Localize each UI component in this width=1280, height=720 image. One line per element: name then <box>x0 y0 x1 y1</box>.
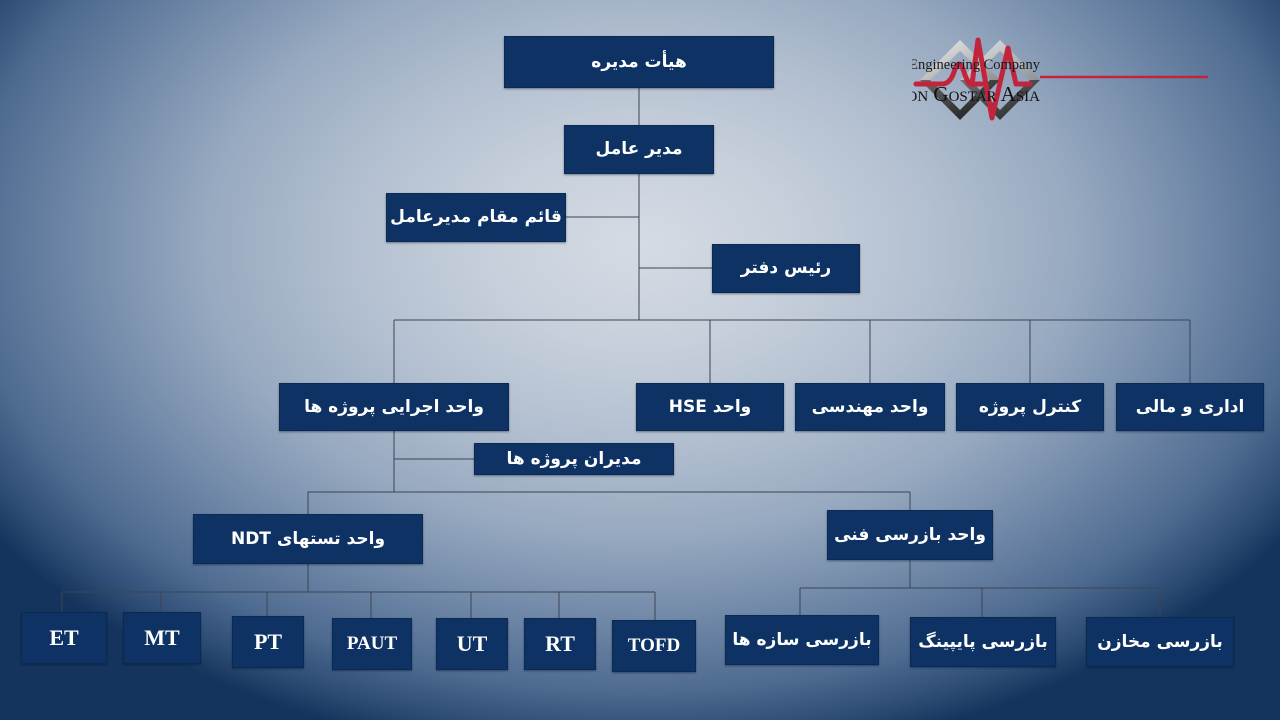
org-node-label: MT <box>136 626 187 650</box>
org-node-insp-structures[interactable]: بازرسی سازه ها <box>725 615 879 665</box>
org-node-label: PAUT <box>339 634 405 655</box>
org-node-label: مدیر عامل <box>588 140 691 159</box>
org-node-label: ET <box>41 626 86 650</box>
org-node-label: اداری و مالی <box>1128 398 1253 417</box>
org-chart-slide: Inspection Engineering Company AZMOON GO… <box>0 0 1280 720</box>
org-node-ndt-tofd[interactable]: TOFD <box>612 620 696 672</box>
org-node-hse[interactable]: واحد HSE <box>636 383 784 431</box>
org-node-label: واحد بازرسی فنی <box>826 526 994 545</box>
org-node-project-managers[interactable]: مدیران پروژه ها <box>474 443 674 475</box>
org-node-ndt-pt[interactable]: PT <box>232 616 304 668</box>
org-node-label: RT <box>537 632 583 656</box>
org-node-ndt-rt[interactable]: RT <box>524 618 596 670</box>
company-logo: Inspection Engineering Company AZMOON GO… <box>912 22 1212 132</box>
org-node-projects-exec[interactable]: واحد اجرایی پروژه ها <box>279 383 509 431</box>
org-node-label: بازرسی سازه ها <box>724 631 879 650</box>
org-node-technical-inspection[interactable]: واحد بازرسی فنی <box>827 510 993 560</box>
org-node-project-control[interactable]: کنترل پروژه <box>956 383 1104 431</box>
org-node-insp-tanks[interactable]: بازرسی مخازن <box>1086 617 1234 667</box>
logo-tagline: Inspection Engineering Company <box>912 57 1041 73</box>
org-node-label: واحد تستهای NDT <box>223 530 393 549</box>
org-node-ndt-et[interactable]: ET <box>21 612 107 664</box>
org-node-label: واحد مهندسی <box>804 398 937 417</box>
org-node-ceo[interactable]: مدیر عامل <box>564 125 714 174</box>
org-node-label: UT <box>449 632 496 656</box>
org-node-ndt-ut[interactable]: UT <box>436 618 508 670</box>
org-node-board[interactable]: هیأت مدیره <box>504 36 774 88</box>
org-node-label: رئیس دفتر <box>733 259 839 278</box>
org-node-office-chief[interactable]: رئیس دفتر <box>712 244 860 293</box>
org-node-deputy-ceo[interactable]: قائم مقام مدیرعامل <box>386 193 566 242</box>
org-node-insp-piping[interactable]: بازرسی پایپینگ <box>910 617 1056 667</box>
org-node-label: مدیران پروژه ها <box>499 450 650 469</box>
org-node-label: واحد HSE <box>661 398 759 417</box>
org-node-label: کنترل پروژه <box>971 398 1089 417</box>
org-node-label: بازرسی پایپینگ <box>910 633 1056 652</box>
org-node-label: PT <box>246 630 290 654</box>
org-node-label: TOFD <box>620 636 688 657</box>
org-node-label: قائم مقام مدیرعامل <box>382 208 570 227</box>
org-node-ndt-paut[interactable]: PAUT <box>332 618 412 670</box>
org-node-label: واحد اجرایی پروژه ها <box>296 398 492 417</box>
org-node-label: هیأت مدیره <box>583 53 694 72</box>
org-node-ndt-unit[interactable]: واحد تستهای NDT <box>193 514 423 564</box>
org-node-ndt-mt[interactable]: MT <box>123 612 201 664</box>
org-node-admin-finance[interactable]: اداری و مالی <box>1116 383 1264 431</box>
org-node-engineering[interactable]: واحد مهندسی <box>795 383 945 431</box>
org-node-label: بازرسی مخازن <box>1089 633 1231 652</box>
